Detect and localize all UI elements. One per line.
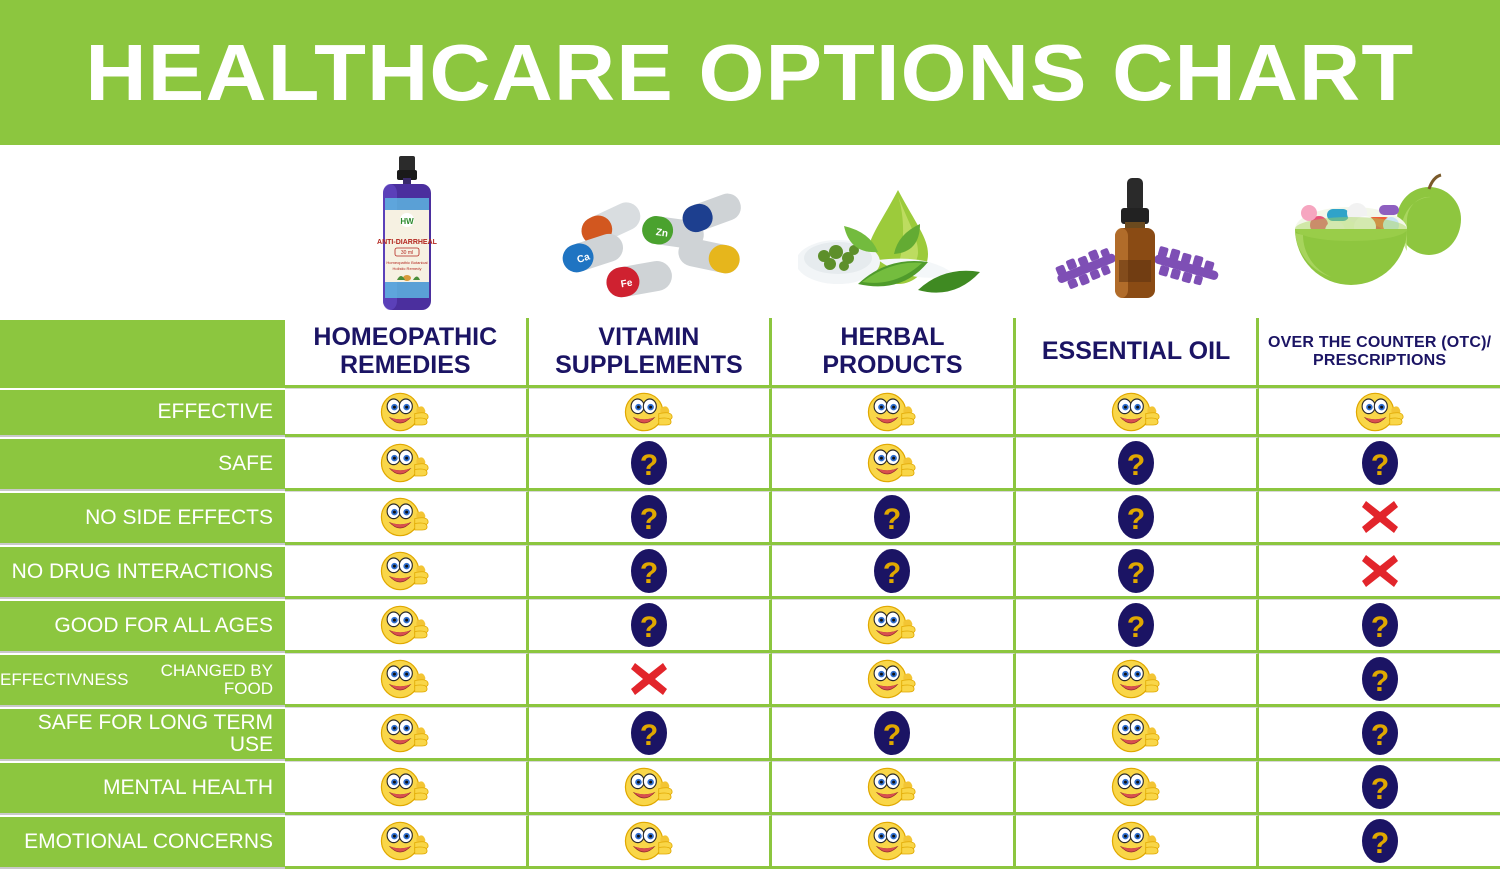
row-cells: ? ? ?	[285, 491, 1500, 545]
essential-oil-graphic	[1041, 164, 1231, 314]
table-row: EMOTIONAL CONCERNS	[0, 815, 1500, 869]
column-header-line2: PRESCRIPTIONS	[1268, 352, 1491, 370]
svg-text:?: ?	[883, 557, 901, 590]
thumbs-up-smiley-icon	[1354, 389, 1406, 435]
column-header-vitamin-supplements: VITAMIN SUPPLEMENTS	[529, 318, 773, 388]
header-cells: HOMEOPATHIC REMEDIES VITAMIN SUPPLEMENTS…	[285, 318, 1500, 388]
svg-text:?: ?	[1127, 611, 1145, 644]
otc-pills-bowl-graphic	[1279, 169, 1479, 314]
question-mark-icon: ?	[629, 709, 669, 757]
thumbs-up-smiley-icon	[866, 764, 918, 810]
thumbs-up-smiley-icon	[379, 656, 431, 702]
row-label-emotional-concerns: EMOTIONAL CONCERNS	[0, 815, 285, 869]
cell-question-mark-icon: ?	[1259, 437, 1500, 491]
row-label-line1: EMOTIONAL CONCERNS	[24, 831, 273, 853]
red-cross-icon	[627, 659, 671, 699]
cell-question-mark-icon: ?	[1259, 707, 1500, 761]
cell-thumbs-up-smiley-icon	[529, 815, 773, 869]
row-label-line2: CHANGED BY FOOD	[128, 662, 273, 698]
cell-red-cross-icon	[1259, 545, 1500, 599]
table-row: EFFECTIVNESSCHANGED BY FOOD	[0, 653, 1500, 707]
cell-question-mark-icon: ?	[1016, 599, 1260, 653]
product-image-strip: HW ANTI-DIARRHEAL 30 ml Homeopathic Bota…	[0, 145, 1500, 318]
cell-thumbs-up-smiley-icon	[285, 388, 529, 437]
column-header-line2: PRODUCTS	[822, 352, 962, 380]
row-label-line1: NO SIDE EFFECTS	[85, 507, 273, 529]
cell-question-mark-icon: ?	[1016, 437, 1260, 491]
title-banner: HEALTHCARE OPTIONS CHART	[0, 0, 1500, 145]
cell-question-mark-icon: ?	[529, 707, 773, 761]
svg-text:Holistic Remedy: Holistic Remedy	[392, 266, 421, 271]
cell-question-mark-icon: ?	[529, 599, 773, 653]
thumbs-up-smiley-icon	[866, 389, 918, 435]
thumbs-up-smiley-icon	[379, 602, 431, 648]
thumbs-up-smiley-icon	[379, 818, 431, 864]
homeopathic-bottle-graphic: HW ANTI-DIARRHEAL 30 ml Homeopathic Bota…	[367, 154, 447, 314]
vitamin-capsules-image: Ca Zn Fe	[528, 145, 771, 318]
otc-pills-bowl-image	[1257, 145, 1500, 318]
question-mark-icon: ?	[1360, 439, 1400, 487]
cell-thumbs-up-smiley-icon	[1259, 388, 1500, 437]
question-mark-icon: ?	[872, 493, 912, 541]
thumbs-up-smiley-icon	[866, 818, 918, 864]
row-cells: ?	[285, 761, 1500, 815]
row-label-no-drug-interactions: NO DRUG INTERACTIONS	[0, 545, 285, 599]
cell-thumbs-up-smiley-icon	[1016, 388, 1260, 437]
row-label-line1: NO DRUG INTERACTIONS	[12, 561, 273, 583]
cell-question-mark-icon: ?	[1016, 491, 1260, 545]
row-label-line1: SAFE FOR LONG TERM USE	[0, 712, 273, 757]
cell-question-mark-icon: ?	[1259, 761, 1500, 815]
thumbs-up-smiley-icon	[379, 494, 431, 540]
question-mark-icon: ?	[1116, 493, 1156, 541]
thumbs-up-smiley-icon	[866, 656, 918, 702]
column-header-line2: SUPPLEMENTS	[555, 352, 743, 380]
thumbs-up-smiley-icon	[379, 440, 431, 486]
cell-thumbs-up-smiley-icon	[1016, 653, 1260, 707]
question-mark-icon: ?	[1116, 547, 1156, 595]
cell-thumbs-up-smiley-icon	[285, 437, 529, 491]
column-header-line1: HERBAL	[822, 324, 962, 352]
table-row: SAFE FOR LONG TERM USE ? ?	[0, 707, 1500, 761]
cell-question-mark-icon: ?	[1259, 599, 1500, 653]
svg-text:?: ?	[1127, 557, 1145, 590]
table-header-row: HOMEOPATHIC REMEDIES VITAMIN SUPPLEMENTS…	[0, 318, 1500, 388]
column-header-line1: HOMEOPATHIC	[313, 324, 497, 352]
svg-text:ANTI-DIARRHEAL: ANTI-DIARRHEAL	[377, 239, 438, 246]
cell-question-mark-icon: ?	[529, 545, 773, 599]
question-mark-icon: ?	[1360, 655, 1400, 703]
row-label-line1: SAFE	[218, 453, 273, 475]
herbal-products-graphic	[798, 174, 988, 314]
cell-red-cross-icon	[1259, 491, 1500, 545]
cell-question-mark-icon: ?	[772, 545, 1016, 599]
thumbs-up-smiley-icon	[379, 389, 431, 435]
row-cells: ?	[285, 815, 1500, 869]
cell-question-mark-icon: ?	[1259, 815, 1500, 869]
cell-thumbs-up-smiley-icon	[772, 815, 1016, 869]
thumbs-up-smiley-icon	[379, 548, 431, 594]
cell-thumbs-up-smiley-icon	[1016, 707, 1260, 761]
svg-text:?: ?	[640, 449, 658, 482]
header-corner-cell	[0, 318, 285, 388]
cell-thumbs-up-smiley-icon	[285, 491, 529, 545]
page-title: HEALTHCARE OPTIONS CHART	[86, 33, 1415, 113]
svg-text:Fe: Fe	[619, 277, 633, 290]
thumbs-up-smiley-icon	[1110, 710, 1162, 756]
comparison-table: HOMEOPATHIC REMEDIES VITAMIN SUPPLEMENTS…	[0, 318, 1500, 869]
question-mark-icon: ?	[629, 601, 669, 649]
svg-text:HW: HW	[400, 217, 414, 226]
cell-thumbs-up-smiley-icon	[1016, 761, 1260, 815]
column-header-essential-oil: ESSENTIAL OIL	[1016, 318, 1260, 388]
red-cross-icon	[1358, 551, 1402, 591]
svg-text:?: ?	[1371, 611, 1389, 644]
cell-thumbs-up-smiley-icon	[285, 815, 529, 869]
svg-text:?: ?	[640, 557, 658, 590]
question-mark-icon: ?	[629, 439, 669, 487]
thumbs-up-smiley-icon	[1110, 656, 1162, 702]
thumbs-up-smiley-icon	[866, 602, 918, 648]
column-header-line1: VITAMIN	[555, 324, 743, 352]
row-label-good-for-all-ages: GOOD FOR ALL AGES	[0, 599, 285, 653]
svg-text:Zn: Zn	[655, 227, 669, 240]
cell-thumbs-up-smiley-icon	[285, 653, 529, 707]
thumbs-up-smiley-icon	[623, 389, 675, 435]
vitamin-capsules-graphic: Ca Zn Fe	[550, 174, 750, 314]
row-label-line1: EFFECTIVE	[157, 401, 273, 423]
cell-thumbs-up-smiley-icon	[285, 599, 529, 653]
essential-oil-image	[1014, 145, 1257, 318]
question-mark-icon: ?	[629, 493, 669, 541]
table-row: GOOD FOR ALL AGES ?	[0, 599, 1500, 653]
table-body: EFFECTIVE	[0, 388, 1500, 869]
question-mark-icon: ?	[1360, 709, 1400, 757]
svg-text:?: ?	[640, 719, 658, 752]
row-label-no-side-effects: NO SIDE EFFECTS	[0, 491, 285, 545]
svg-text:?: ?	[1371, 719, 1389, 752]
cell-thumbs-up-smiley-icon	[772, 388, 1016, 437]
row-cells: ?	[285, 653, 1500, 707]
row-cells: ? ? ?	[285, 707, 1500, 761]
table-row: EFFECTIVE	[0, 388, 1500, 437]
row-label-safe: SAFE	[0, 437, 285, 491]
image-strip-spacer	[0, 145, 285, 318]
svg-text:?: ?	[1127, 503, 1145, 536]
question-mark-icon: ?	[1360, 601, 1400, 649]
row-label-safe-for-long-term-use: SAFE FOR LONG TERM USE	[0, 707, 285, 761]
thumbs-up-smiley-icon	[1110, 389, 1162, 435]
column-header-line1: ESSENTIAL OIL	[1042, 338, 1230, 366]
cell-question-mark-icon: ?	[772, 491, 1016, 545]
row-label-line1: GOOD FOR ALL AGES	[54, 615, 273, 637]
svg-text:?: ?	[883, 503, 901, 536]
cell-red-cross-icon	[529, 653, 773, 707]
cell-thumbs-up-smiley-icon	[529, 761, 773, 815]
question-mark-icon: ?	[872, 709, 912, 757]
table-row: NO DRUG INTERACTIONS ? ? ?	[0, 545, 1500, 599]
cell-thumbs-up-smiley-icon	[529, 388, 773, 437]
row-label-effectivness: EFFECTIVNESSCHANGED BY FOOD	[0, 653, 285, 707]
svg-text:?: ?	[640, 611, 658, 644]
homeopathic-bottle-image: HW ANTI-DIARRHEAL 30 ml Homeopathic Bota…	[285, 145, 528, 318]
column-header-homeopathic-remedies: HOMEOPATHIC REMEDIES	[285, 318, 529, 388]
herbal-products-image	[771, 145, 1014, 318]
row-label-mental-health: MENTAL HEALTH	[0, 761, 285, 815]
thumbs-up-smiley-icon	[1110, 764, 1162, 810]
column-header-line2: REMEDIES	[313, 352, 497, 380]
svg-text:?: ?	[1371, 773, 1389, 806]
cell-thumbs-up-smiley-icon	[772, 761, 1016, 815]
cell-thumbs-up-smiley-icon	[285, 545, 529, 599]
row-cells: ? ? ?	[285, 437, 1500, 491]
svg-text:30 ml: 30 ml	[400, 250, 412, 256]
column-header-line1: OVER THE COUNTER (OTC)/	[1268, 334, 1491, 352]
row-cells: ? ? ?	[285, 599, 1500, 653]
row-cells	[285, 388, 1500, 437]
svg-text:?: ?	[640, 503, 658, 536]
svg-text:?: ?	[1127, 449, 1145, 482]
healthcare-options-chart: HEALTHCARE OPTIONS CHART HW ANTI-DIARRHE…	[0, 0, 1500, 879]
cell-question-mark-icon: ?	[529, 437, 773, 491]
row-label-effective: EFFECTIVE	[0, 388, 285, 437]
cell-question-mark-icon: ?	[1016, 545, 1260, 599]
thumbs-up-smiley-icon	[866, 440, 918, 486]
question-mark-icon: ?	[629, 547, 669, 595]
cell-thumbs-up-smiley-icon	[285, 707, 529, 761]
thumbs-up-smiley-icon	[623, 764, 675, 810]
cell-question-mark-icon: ?	[529, 491, 773, 545]
cell-question-mark-icon: ?	[1259, 653, 1500, 707]
thumbs-up-smiley-icon	[379, 710, 431, 756]
row-label-line1: MENTAL HEALTH	[103, 777, 273, 799]
column-header-herbal-products: HERBAL PRODUCTS	[772, 318, 1016, 388]
thumbs-up-smiley-icon	[623, 818, 675, 864]
svg-text:?: ?	[1371, 665, 1389, 698]
row-label-line1: EFFECTIVNESS	[0, 671, 128, 689]
svg-text:?: ?	[883, 719, 901, 752]
question-mark-icon: ?	[1116, 439, 1156, 487]
thumbs-up-smiley-icon	[379, 764, 431, 810]
svg-text:Homeopathic Botanical: Homeopathic Botanical	[386, 260, 427, 265]
cell-thumbs-up-smiley-icon	[772, 599, 1016, 653]
red-cross-icon	[1358, 497, 1402, 537]
thumbs-up-smiley-icon	[1110, 818, 1162, 864]
svg-text:?: ?	[1371, 827, 1389, 860]
cell-question-mark-icon: ?	[772, 707, 1016, 761]
column-header-otc-prescriptions: OVER THE COUNTER (OTC)/ PRESCRIPTIONS	[1259, 318, 1500, 388]
cell-thumbs-up-smiley-icon	[285, 761, 529, 815]
question-mark-icon: ?	[1360, 817, 1400, 865]
question-mark-icon: ?	[1360, 763, 1400, 811]
question-mark-icon: ?	[872, 547, 912, 595]
table-row: SAFE ?	[0, 437, 1500, 491]
table-row: MENTAL HEALTH	[0, 761, 1500, 815]
cell-thumbs-up-smiley-icon	[772, 653, 1016, 707]
question-mark-icon: ?	[1116, 601, 1156, 649]
svg-text:?: ?	[1371, 449, 1389, 482]
cell-thumbs-up-smiley-icon	[1016, 815, 1260, 869]
cell-thumbs-up-smiley-icon	[772, 437, 1016, 491]
row-cells: ? ? ?	[285, 545, 1500, 599]
table-row: NO SIDE EFFECTS ? ? ?	[0, 491, 1500, 545]
